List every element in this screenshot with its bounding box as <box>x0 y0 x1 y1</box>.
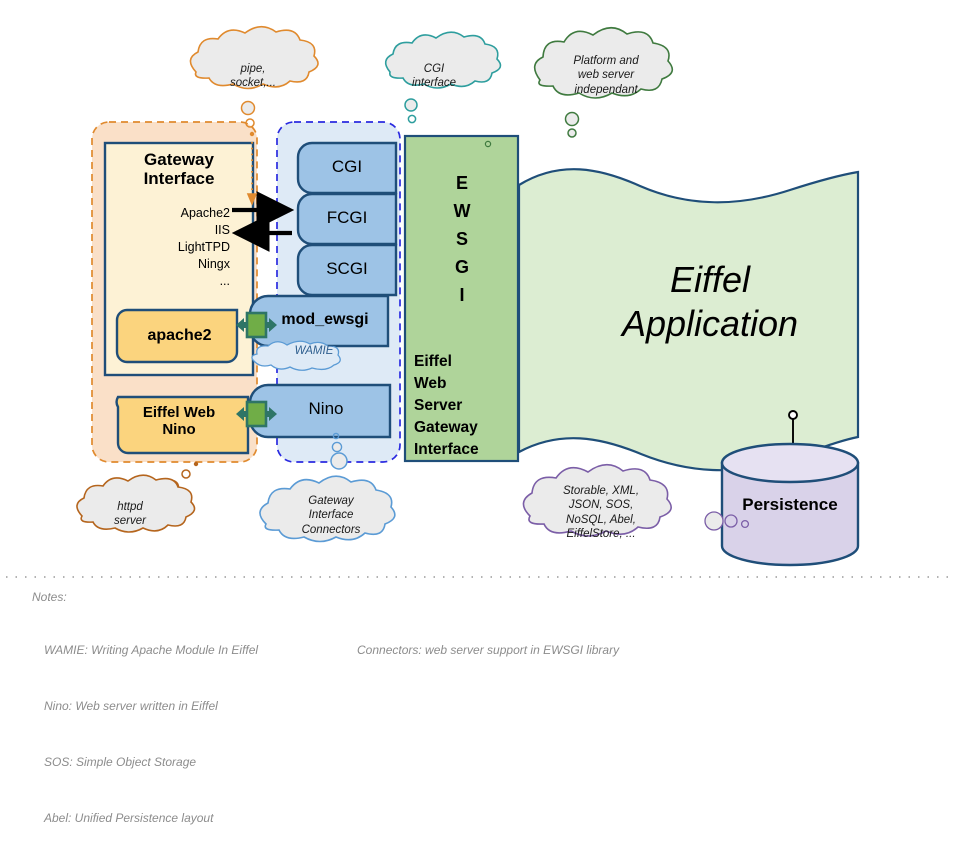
notes-left-column: WAMIE: Writing Apache Module In Eiffel N… <box>44 604 258 864</box>
cloud-cgi-line1: CGI <box>386 62 482 76</box>
cloud-httpd-line1: httpd <box>82 500 178 514</box>
note-nino: Nino: Web server written in Eiffel <box>44 697 258 716</box>
connector-label-fcgi: FCGI <box>298 208 396 227</box>
connector-label-mod-ewsgi: mod_ewsgi <box>262 311 388 329</box>
app-line2: Application <box>560 302 860 346</box>
cloud-store-line3: NoSQL, Abel, <box>536 513 666 527</box>
cloud-conn-line3: Connectors <box>272 523 390 537</box>
wamie-label: WAMIE <box>278 345 350 358</box>
gateway-title-line2: Interface <box>105 169 253 188</box>
ewsgi-letter-g: G <box>430 254 494 282</box>
ewsgi-word-eiffel: Eiffel <box>414 351 518 373</box>
ewsgi-letter-w: W <box>430 198 494 226</box>
cloud-conn-line2: Interface <box>272 508 390 522</box>
cloud-platform-line2: web server <box>546 68 666 82</box>
eiffel-web-nino-label: Eiffel Web Nino <box>118 405 240 439</box>
cloud-text-pipe-socket: pipe, socket,... <box>196 62 310 91</box>
persistence-label: Persistence <box>722 495 858 514</box>
ewn-line1: Eiffel Web <box>118 405 240 422</box>
ewsgi-acronym: E W S G I <box>430 170 494 309</box>
ewsgi-word-server: Server <box>414 395 518 417</box>
cloud-text-gateway-connectors: Gateway Interface Connectors <box>272 494 390 537</box>
app-line1: Eiffel <box>560 258 860 302</box>
cloud-text-cgi-interface: CGI interface <box>386 62 482 91</box>
cloud-pipe-line1: pipe, <box>196 62 310 76</box>
note-abel: Abel: Unified Persistence layout <box>44 809 258 828</box>
cloud-text-storable-formats: Storable, XML, JSON, SOS, NoSQL, Abel, E… <box>536 484 666 542</box>
ewsgi-word-web: Web <box>414 373 518 395</box>
server-lighttpd: LightTPD <box>105 239 230 256</box>
cloud-store-line4: EiffelStore, ... <box>536 527 666 541</box>
ewsgi-letter-s: S <box>430 226 494 254</box>
connector-label-cgi: CGI <box>298 157 396 176</box>
eiffel-application-label: Eiffel Application <box>560 258 860 346</box>
gateway-title-line1: Gateway <box>105 150 253 169</box>
note-connectors: Connectors: web server support in EWSGI … <box>357 641 619 660</box>
cloud-store-line2: JSON, SOS, <box>536 498 666 512</box>
cloud-platform-line3: independant <box>546 83 666 97</box>
server-ellipsis: ... <box>105 273 230 290</box>
connector-label-scgi: SCGI <box>298 259 396 278</box>
cloud-text-platform-independant: Platform and web server independant <box>546 54 666 97</box>
gateway-server-list: Apache2 IIS LightTPD Ningx ... <box>105 205 230 289</box>
persistence-cylinder-top <box>722 444 858 482</box>
ewsgi-letter-e: E <box>430 170 494 198</box>
server-iis: IIS <box>105 222 230 239</box>
server-apache2: Apache2 <box>105 205 230 222</box>
gateway-interface-title: Gateway Interface <box>105 150 253 188</box>
ewsgi-letter-i: I <box>430 282 494 310</box>
cloud-store-line1: Storable, XML, <box>536 484 666 498</box>
cloud-text-httpd-server: httpd server <box>82 500 178 529</box>
server-ningx: Ningx <box>105 256 230 273</box>
ewsgi-word-gateway: Gateway <box>414 417 518 439</box>
ewsgi-expansion: Eiffel Web Server Gateway Interface <box>414 351 518 461</box>
cloud-httpd-line2: server <box>82 514 178 528</box>
note-wamie: WAMIE: Writing Apache Module In Eiffel <box>44 641 258 660</box>
connector-label-nino: Nino <box>262 399 390 418</box>
cloud-platform-line1: Platform and <box>546 54 666 68</box>
cloud-pipe-line2: socket,... <box>196 76 310 90</box>
cloud-conn-line1: Gateway <box>272 494 390 508</box>
ewsgi-word-interface: Interface <box>414 439 518 461</box>
diagram-canvas: Gateway Interface Apache2 IIS LightTPD N… <box>0 0 960 720</box>
ewn-line2: Nino <box>118 422 240 439</box>
notes-right-column: Connectors: web server support in EWSGI … <box>357 604 619 697</box>
note-sos: SOS: Simple Object Storage <box>44 753 258 772</box>
apache2-label: apache2 <box>127 327 232 345</box>
cloud-cgi-line2: interface <box>386 76 482 90</box>
